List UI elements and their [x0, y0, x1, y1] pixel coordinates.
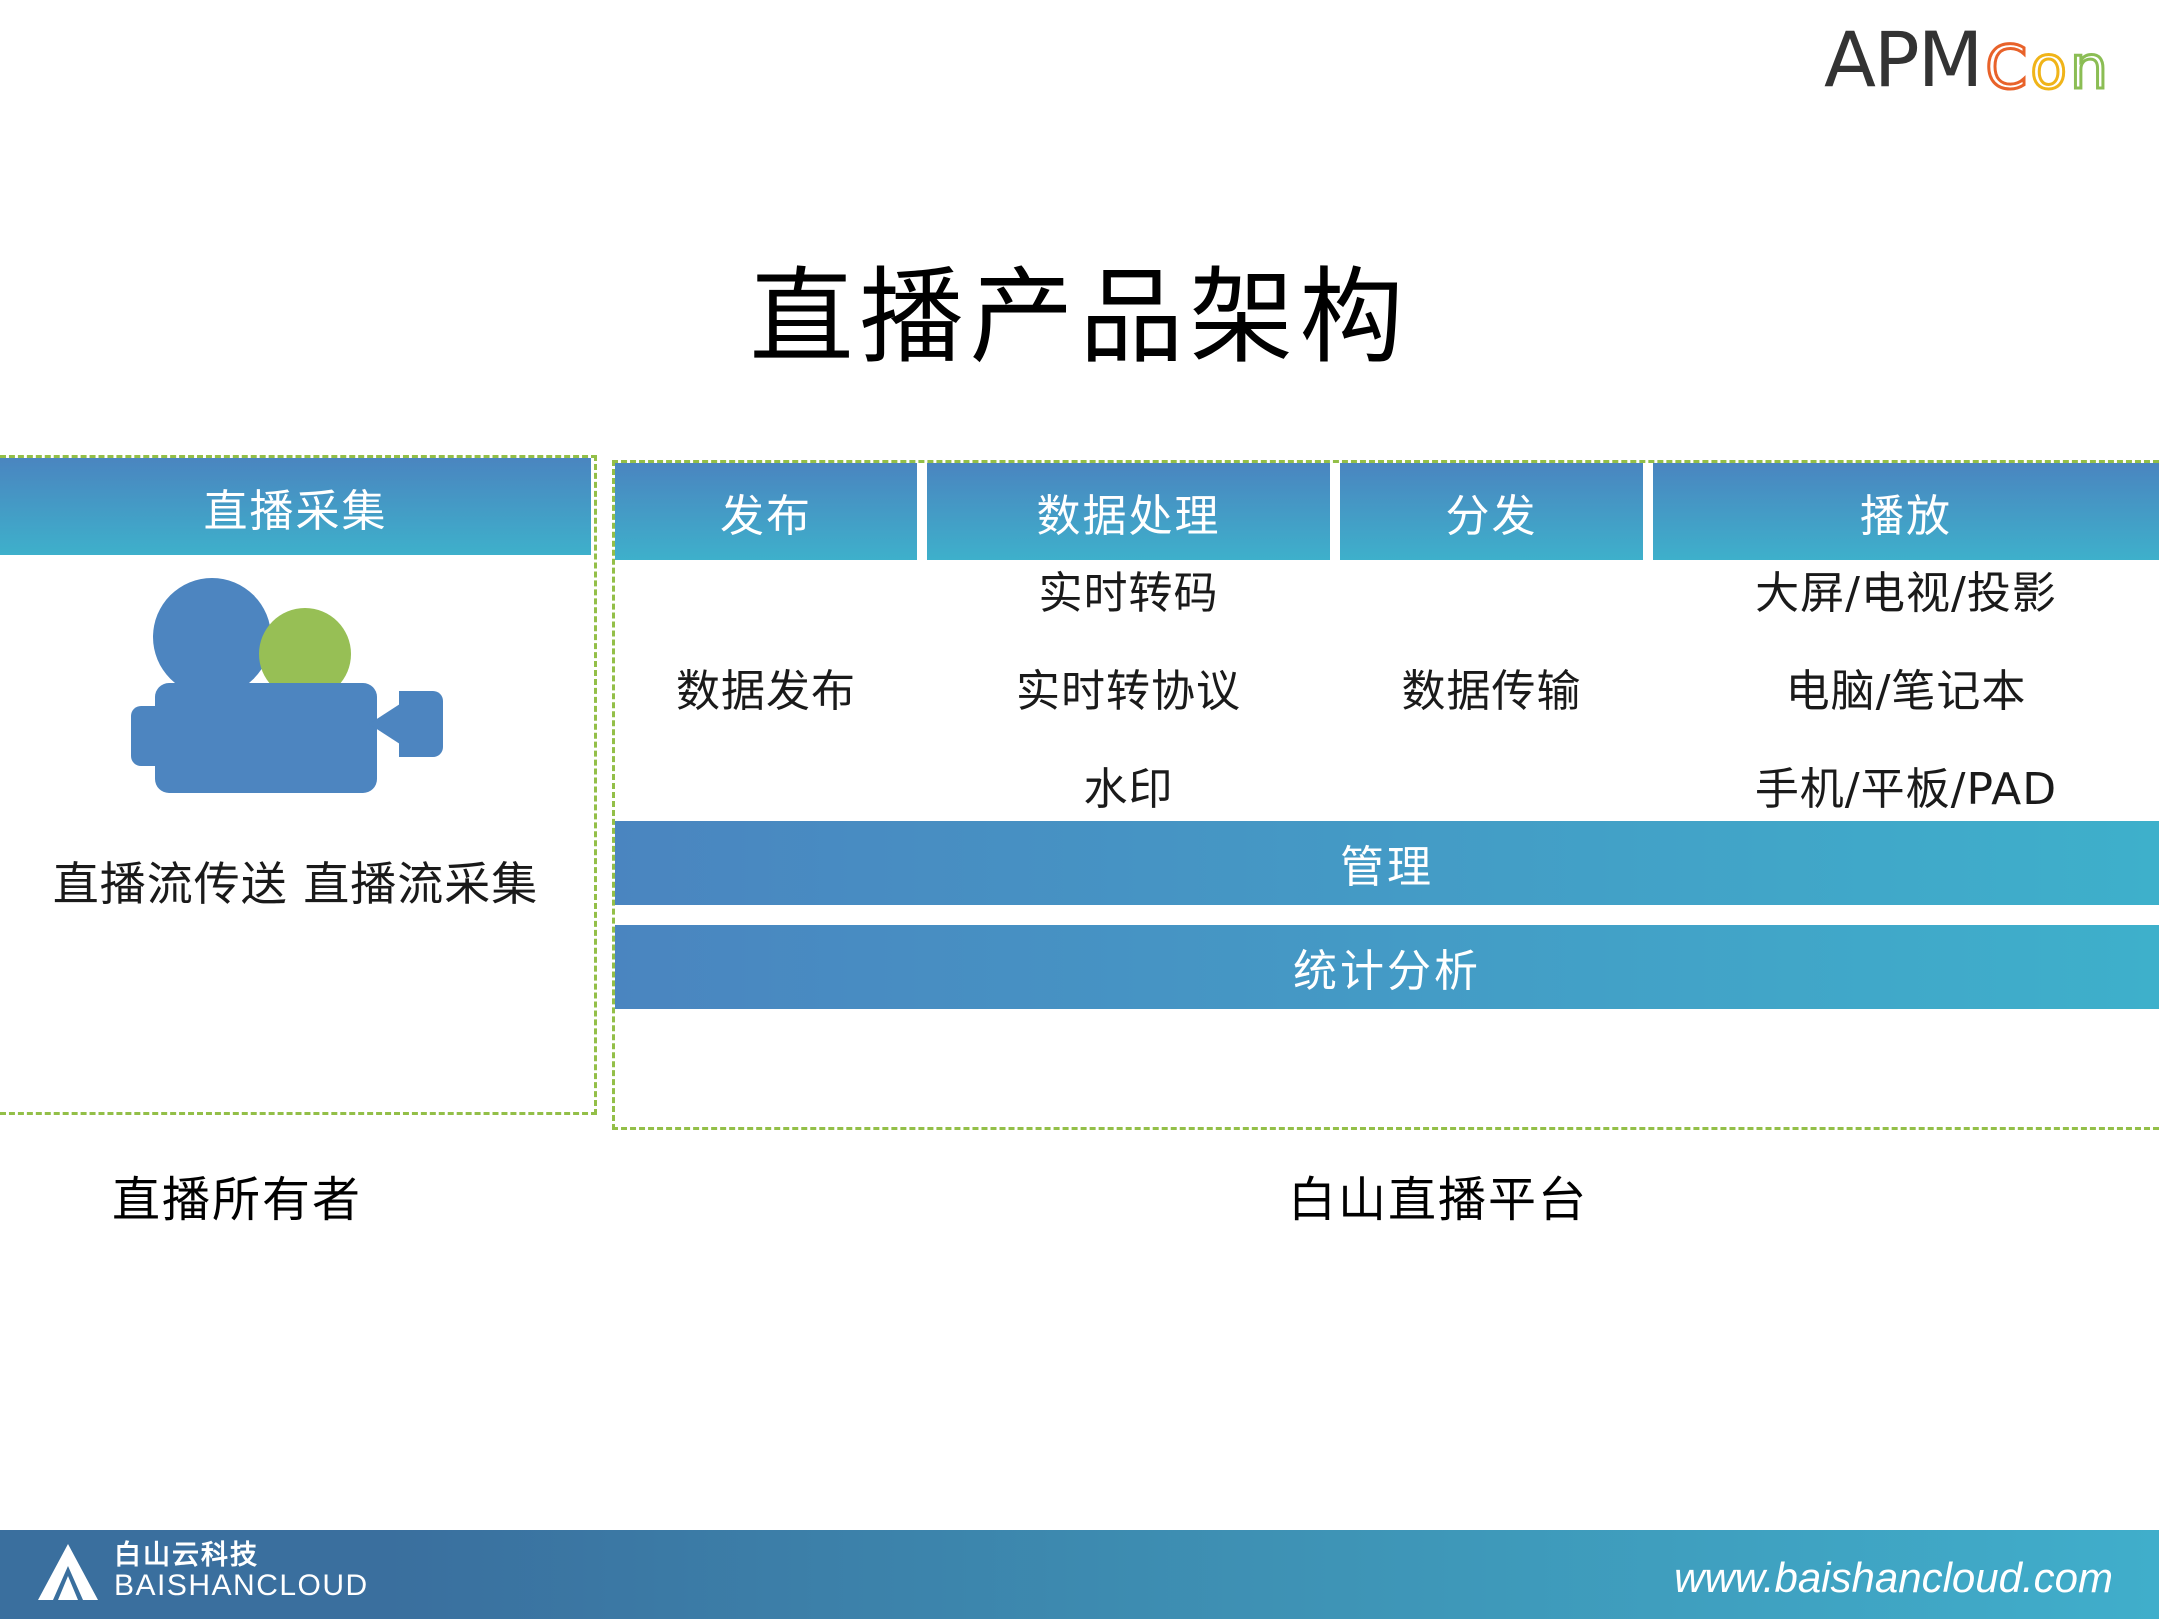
company-name-cn: 白山云科技: [114, 1542, 369, 1570]
camera-lens-hood: [399, 691, 443, 757]
baishan-mountain-icon: [36, 1542, 100, 1602]
live-capture-header: 直播采集: [0, 458, 591, 555]
list-item: 水印: [1084, 753, 1174, 817]
column-body-distribution: 数据传输: [1340, 563, 1643, 810]
column-header-playback: 播放: [1653, 463, 2159, 560]
camera-body: [155, 683, 377, 793]
live-capture-panel: 直播采集 直播流传送 直播流采集: [0, 455, 597, 1115]
apmcon-logo-apm: APM: [1824, 22, 1981, 98]
company-name-en: BAISHANCLOUD: [114, 1570, 369, 1602]
apmcon-logo-o: o: [2030, 38, 2070, 98]
apmcon-logo-c: C: [1985, 38, 2030, 98]
camera-reel-large: [153, 578, 271, 696]
camera-lens-cone: [369, 702, 403, 746]
column-body-data-processing: 实时转码 实时转协议 水印: [927, 563, 1330, 810]
list-item: 数据传输: [1402, 655, 1582, 719]
platform-panel: 发布 数据处理 分发 播放 数据发布 实时转码 实时转协议 水印 数据传输 大屏…: [612, 460, 2159, 1130]
statistics-analysis-bar: 统计分析: [615, 925, 2159, 1009]
apmcon-logo-n: n: [2070, 38, 2111, 98]
column-body-publish: 数据发布: [615, 563, 917, 810]
video-camera-icon: [131, 578, 461, 808]
list-item: 实时转码: [1039, 557, 1219, 621]
architecture-diagram: 直播采集 直播流传送 直播流采集 发布 数据处理 分发 播放 数据发布 实时转码…: [0, 455, 2159, 1135]
baishancloud-logo: 白山云科技 BAISHANCLOUD: [36, 1542, 369, 1602]
apmcon-logo: APM C o n: [1824, 22, 2111, 98]
footer-bar: 白山云科技 BAISHANCLOUD www.baishancloud.com: [0, 1530, 2159, 1619]
column-body-playback: 大屏/电视/投影 电脑/笔记本 手机/平板/PAD: [1653, 563, 2159, 810]
list-item: 手机/平板/PAD: [1755, 753, 2057, 817]
video-camera-icon-wrap: [0, 558, 591, 828]
column-header-distribution: 分发: [1340, 463, 1643, 560]
list-item: 电脑/笔记本: [1786, 655, 2027, 719]
caption-stream-owner: 直播所有者: [112, 1160, 362, 1230]
column-header-publish: 发布: [615, 463, 917, 560]
column-header-data-processing: 数据处理: [927, 463, 1330, 560]
page-title: 直播产品架构: [0, 232, 2159, 383]
website-url: www.baishancloud.com: [1674, 1554, 2113, 1602]
list-item: 数据发布: [676, 655, 856, 719]
list-item: 实时转协议: [1016, 655, 1241, 719]
management-bar: 管理: [615, 821, 2159, 905]
list-item: 大屏/电视/投影: [1755, 557, 2057, 621]
live-capture-caption: 直播流传送 直播流采集: [0, 848, 591, 914]
caption-baishan-platform: 白山直播平台: [1288, 1160, 1588, 1230]
